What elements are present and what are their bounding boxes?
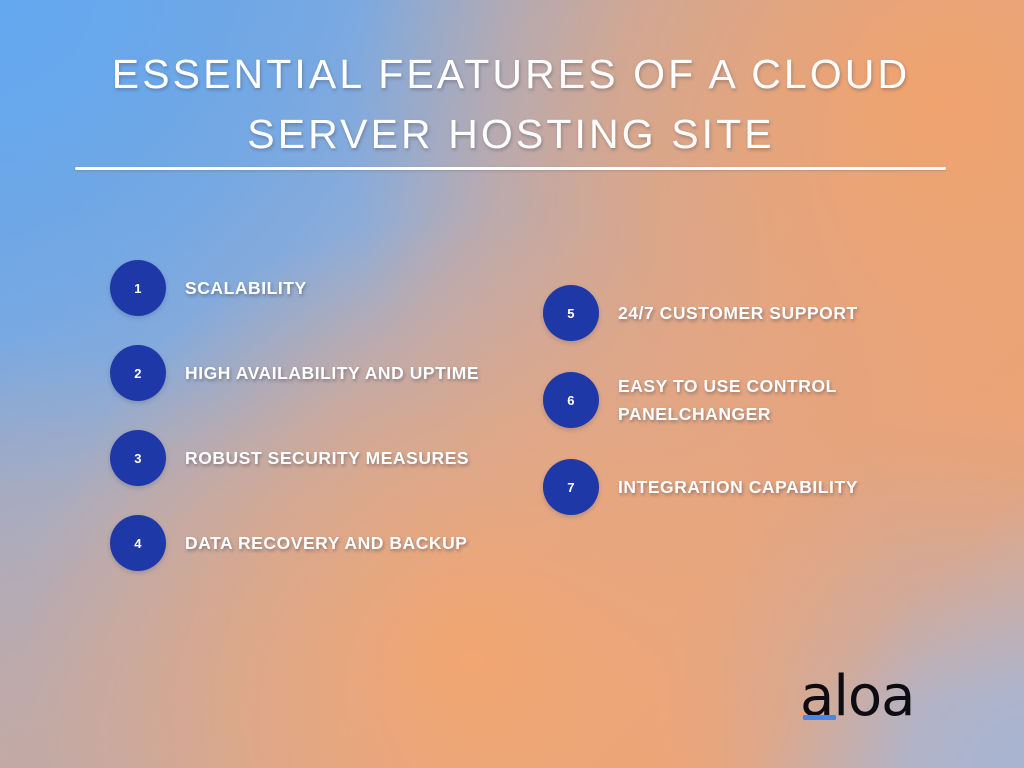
list-item[interactable]: 6 EASY TO USE CONTROL PANELCHANGER xyxy=(543,372,943,428)
badge-number: 6 xyxy=(567,393,575,408)
list-item[interactable]: 2 HIGH AVAILABILITY AND UPTIME xyxy=(110,345,510,401)
page-title: ESSENTIAL FEATURES OF A CLOUD SERVER HOS… xyxy=(75,44,947,164)
feature-label: 24/7 CUSTOMER SUPPORT xyxy=(618,299,858,327)
aloa-logo[interactable]: aloa xyxy=(800,668,930,730)
feature-label: EASY TO USE CONTROL PANELCHANGER xyxy=(618,372,908,428)
feature-column-right: 5 24/7 CUSTOMER SUPPORT 6 EASY TO USE CO… xyxy=(543,285,943,546)
feature-number-badge: 5 xyxy=(543,285,599,341)
list-item[interactable]: 4 DATA RECOVERY AND BACKUP xyxy=(110,515,510,571)
title-block: ESSENTIAL FEATURES OF A CLOUD SERVER HOS… xyxy=(75,44,947,164)
feature-column-left: 1 SCALABILITY 2 HIGH AVAILABILITY AND UP… xyxy=(110,260,510,600)
list-item[interactable]: 7 INTEGRATION CAPABILITY xyxy=(543,459,943,515)
badge-number: 5 xyxy=(567,306,575,321)
feature-number-badge: 1 xyxy=(110,260,166,316)
feature-label: ROBUST SECURITY MEASURES xyxy=(185,444,469,472)
feature-label: HIGH AVAILABILITY AND UPTIME xyxy=(185,359,479,387)
badge-number: 3 xyxy=(134,451,142,466)
logo-underline-accent xyxy=(803,715,836,720)
list-item[interactable]: 5 24/7 CUSTOMER SUPPORT xyxy=(543,285,943,341)
list-item[interactable]: 3 ROBUST SECURITY MEASURES xyxy=(110,430,510,486)
feature-number-badge: 6 xyxy=(543,372,599,428)
feature-label: DATA RECOVERY AND BACKUP xyxy=(185,529,468,557)
badge-number: 7 xyxy=(567,480,575,495)
title-divider xyxy=(75,167,946,170)
badge-number: 1 xyxy=(134,281,142,296)
slide-canvas: ESSENTIAL FEATURES OF A CLOUD SERVER HOS… xyxy=(0,0,1024,768)
feature-number-badge: 7 xyxy=(543,459,599,515)
feature-label: INTEGRATION CAPABILITY xyxy=(618,473,858,501)
feature-number-badge: 2 xyxy=(110,345,166,401)
badge-number: 2 xyxy=(134,366,142,381)
feature-number-badge: 4 xyxy=(110,515,166,571)
feature-number-badge: 3 xyxy=(110,430,166,486)
feature-label: SCALABILITY xyxy=(185,274,307,302)
list-item[interactable]: 1 SCALABILITY xyxy=(110,260,510,316)
badge-number: 4 xyxy=(134,536,142,551)
